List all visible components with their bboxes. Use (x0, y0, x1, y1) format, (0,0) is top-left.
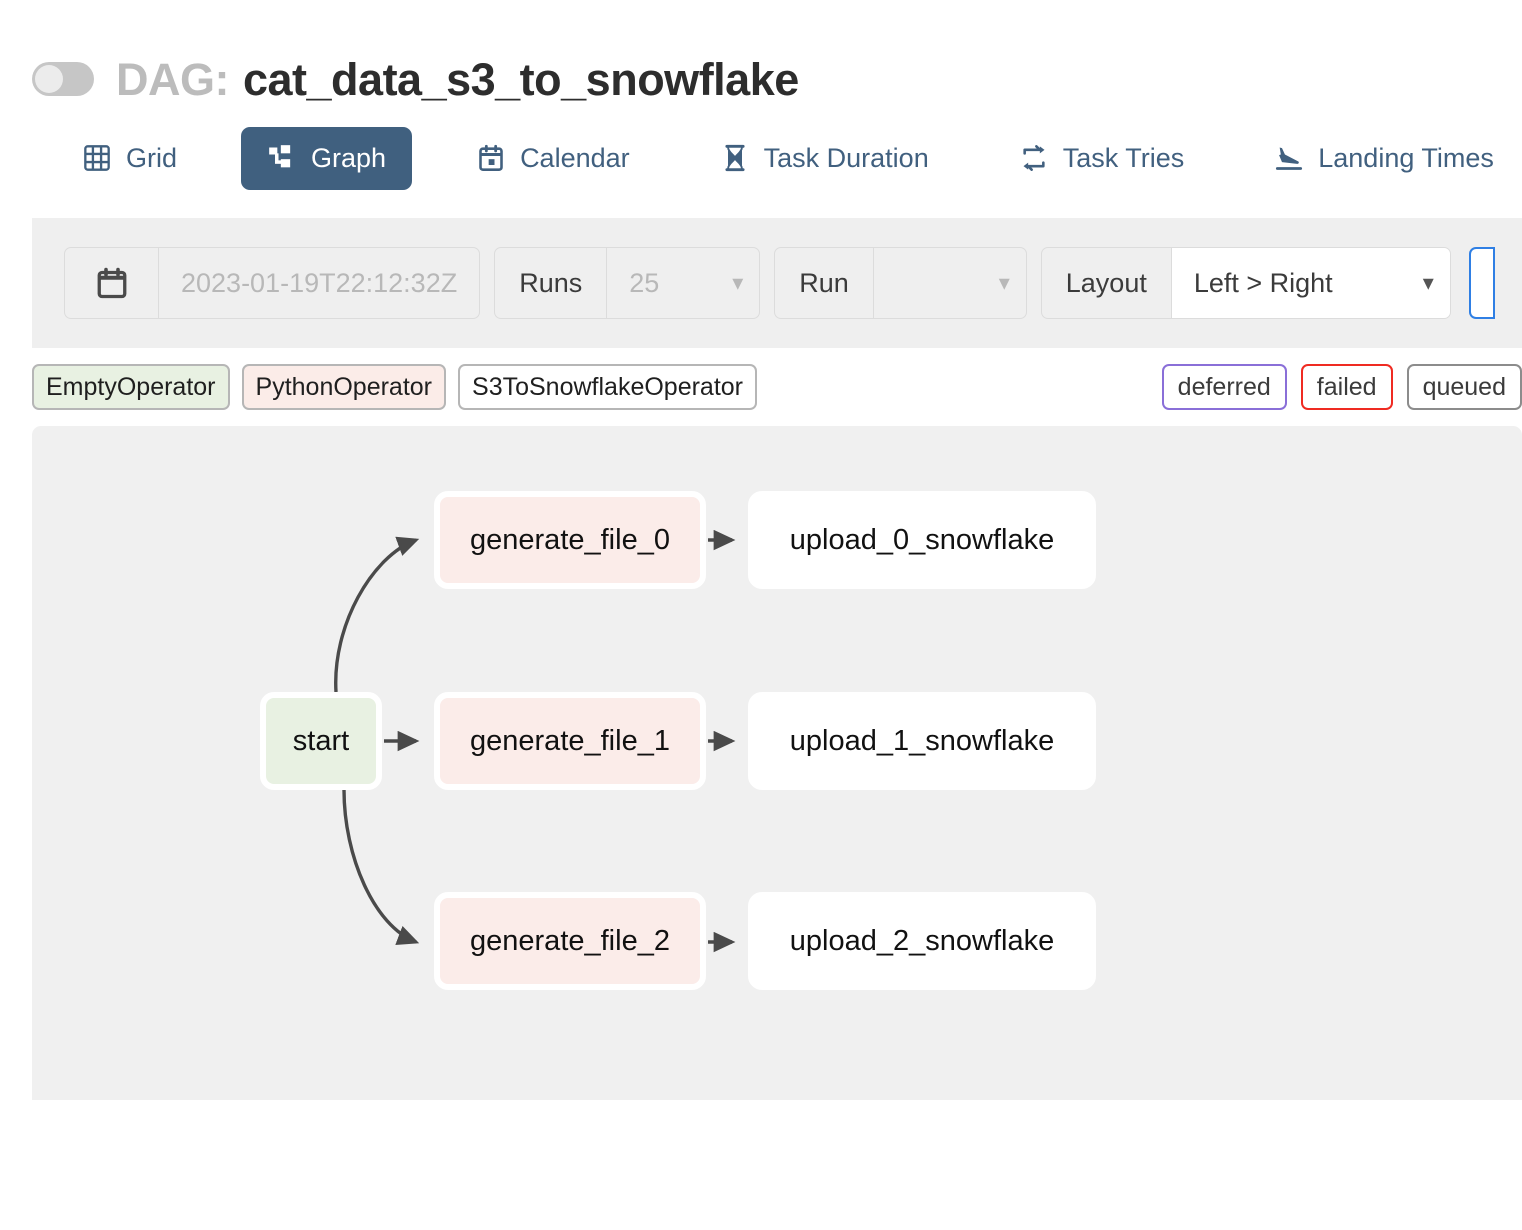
page-title: cat_data_s3_to_snowflake (243, 57, 799, 102)
graph-node-upload-0-snowflake[interactable]: upload_0_snowflake (748, 491, 1096, 589)
runs-label: Runs (495, 248, 607, 318)
graph-icon (267, 143, 297, 173)
tab-landing-times-label: Landing Times (1318, 143, 1494, 174)
operator-chip-emptyoperator[interactable]: EmptyOperator (32, 364, 230, 411)
graph-node-upload-1-snowflake[interactable]: upload_1_snowflake (748, 692, 1096, 790)
runs-value: 25 (629, 268, 659, 299)
repeat-icon (1019, 143, 1049, 173)
dag-pause-toggle[interactable] (32, 62, 94, 96)
graph-node-start[interactable]: start (260, 692, 382, 790)
calendar-icon (65, 248, 159, 318)
hourglass-icon (720, 143, 750, 173)
page-header: DAG: cat_data_s3_to_snowflake (0, 0, 1522, 110)
toggle-knob (35, 65, 63, 93)
tab-task-tries[interactable]: Task Tries (993, 127, 1211, 190)
operator-chip-pythonoperator[interactable]: PythonOperator (242, 364, 447, 411)
status-chip-deferred[interactable]: deferred (1162, 364, 1287, 411)
plane-landing-icon (1274, 143, 1304, 173)
tab-task-duration[interactable]: Task Duration (694, 127, 955, 190)
layout-value: Left > Right (1194, 268, 1333, 299)
tab-grid[interactable]: Grid (56, 127, 203, 190)
grid-icon (82, 143, 112, 173)
tab-graph[interactable]: Graph (241, 127, 412, 190)
execution-date-input[interactable]: 2023-01-19T22:12:32Z (159, 248, 479, 318)
status-legend: deferred failed queued (1162, 348, 1522, 426)
tab-task-duration-label: Task Duration (764, 143, 929, 174)
layout-label: Layout (1042, 248, 1172, 318)
graph-node-generate-file-0[interactable]: generate_file_0 (434, 491, 706, 589)
execution-date-picker[interactable]: 2023-01-19T22:12:32Z (64, 247, 480, 319)
chevron-down-icon: ▾ (1423, 272, 1434, 294)
operator-legend: EmptyOperator PythonOperator S3ToSnowfla… (32, 364, 757, 411)
dag-prefix-label: DAG: (116, 57, 229, 102)
chevron-down-icon: ▾ (732, 272, 743, 294)
tab-grid-label: Grid (126, 143, 177, 174)
graph-toolbar: 2023-01-19T22:12:32Z Runs 25 ▾ Run ▾ Lay… (32, 218, 1522, 348)
run-select[interactable]: ▾ (874, 248, 1026, 318)
graph-node-generate-file-1[interactable]: generate_file_1 (434, 692, 706, 790)
tab-graph-label: Graph (311, 143, 386, 174)
graph-node-upload-2-snowflake[interactable]: upload_2_snowflake (748, 892, 1096, 990)
chevron-down-icon: ▾ (999, 272, 1010, 294)
graph-node-generate-file-2[interactable]: generate_file_2 (434, 892, 706, 990)
runs-select[interactable]: 25 ▾ (607, 248, 759, 318)
layout-control[interactable]: Layout Left > Right ▾ (1041, 247, 1451, 319)
dag-graph-canvas[interactable]: start generate_file_0 generate_file_1 ge… (32, 426, 1522, 1100)
status-chip-queued[interactable]: queued (1407, 364, 1522, 411)
layout-select[interactable]: Left > Right ▾ (1172, 248, 1450, 318)
search-tasks-input[interactable] (1469, 247, 1495, 319)
tab-calendar-label: Calendar (520, 143, 630, 174)
calendar-icon (476, 143, 506, 173)
tab-landing-times[interactable]: Landing Times (1248, 127, 1520, 190)
view-tabbar: Grid Graph Calendar Task Duration Ta (0, 110, 1522, 206)
tab-task-tries-label: Task Tries (1063, 143, 1185, 174)
status-chip-failed[interactable]: failed (1301, 364, 1393, 411)
operator-chip-s3tosnowflakeoperator[interactable]: S3ToSnowflakeOperator (458, 364, 757, 411)
run-control[interactable]: Run ▾ (774, 247, 1027, 319)
runs-control[interactable]: Runs 25 ▾ (494, 247, 760, 319)
legend-row: EmptyOperator PythonOperator S3ToSnowfla… (32, 348, 1522, 426)
run-label: Run (775, 248, 874, 318)
tab-calendar[interactable]: Calendar (450, 127, 656, 190)
